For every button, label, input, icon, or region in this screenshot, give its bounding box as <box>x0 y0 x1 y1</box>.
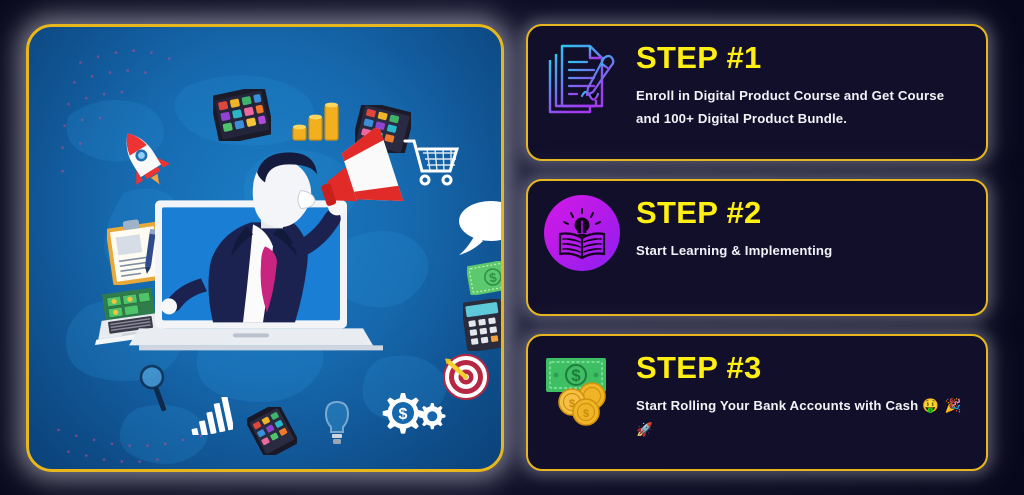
step-2-badge <box>544 195 620 271</box>
dollar-bill-icon: $ <box>467 261 504 295</box>
svg-text:$: $ <box>571 366 581 385</box>
svg-text:$: $ <box>399 406 408 423</box>
speech-bubble-icon <box>453 199 504 257</box>
steps-list: STEP #1 Enroll in Digital Product Course… <box>526 24 988 471</box>
step-3-description: Start Rolling Your Bank Accounts with Ca… <box>636 394 970 442</box>
step-3-title: STEP #3 <box>636 352 970 385</box>
calculator-icon <box>463 299 504 351</box>
book-lightbulb-icon <box>544 195 622 273</box>
document-pen-icon <box>544 40 622 118</box>
lightbulb-icon <box>319 399 355 447</box>
step-card-2[interactable]: STEP #2 Start Learning & Implementing <box>526 179 988 316</box>
smartphone-icon <box>247 407 297 455</box>
bar-chart-icon <box>187 397 233 435</box>
step-3-description-text: Start Rolling Your Bank Accounts with Ca… <box>636 398 918 413</box>
step-2-title: STEP #2 <box>636 197 970 230</box>
step-2-description: Start Learning & Implementing <box>636 239 970 263</box>
step-1-description: Enroll in Digital Product Course and Get… <box>636 84 970 131</box>
step-2-body: STEP #2 Start Learning & Implementing <box>636 195 970 262</box>
step-card-3[interactable]: $ $ $ STEP #3 S <box>526 334 988 471</box>
cash-coins-icon: $ $ $ <box>544 350 622 428</box>
step-1-body: STEP #1 Enroll in Digital Product Course… <box>636 40 970 131</box>
digital-marketing-illustration: $ <box>26 24 504 472</box>
dartboard-icon <box>433 351 495 413</box>
step-card-1[interactable]: STEP #1 Enroll in Digital Product Course… <box>526 24 988 161</box>
step-1-title: STEP #1 <box>636 42 970 75</box>
svg-text:$: $ <box>583 408 589 420</box>
promo-steps-page: $ <box>0 0 1024 495</box>
step-3-body: STEP #3 Start Rolling Your Bank Accounts… <box>636 350 970 442</box>
businessman-megaphone-laptop <box>115 128 415 388</box>
